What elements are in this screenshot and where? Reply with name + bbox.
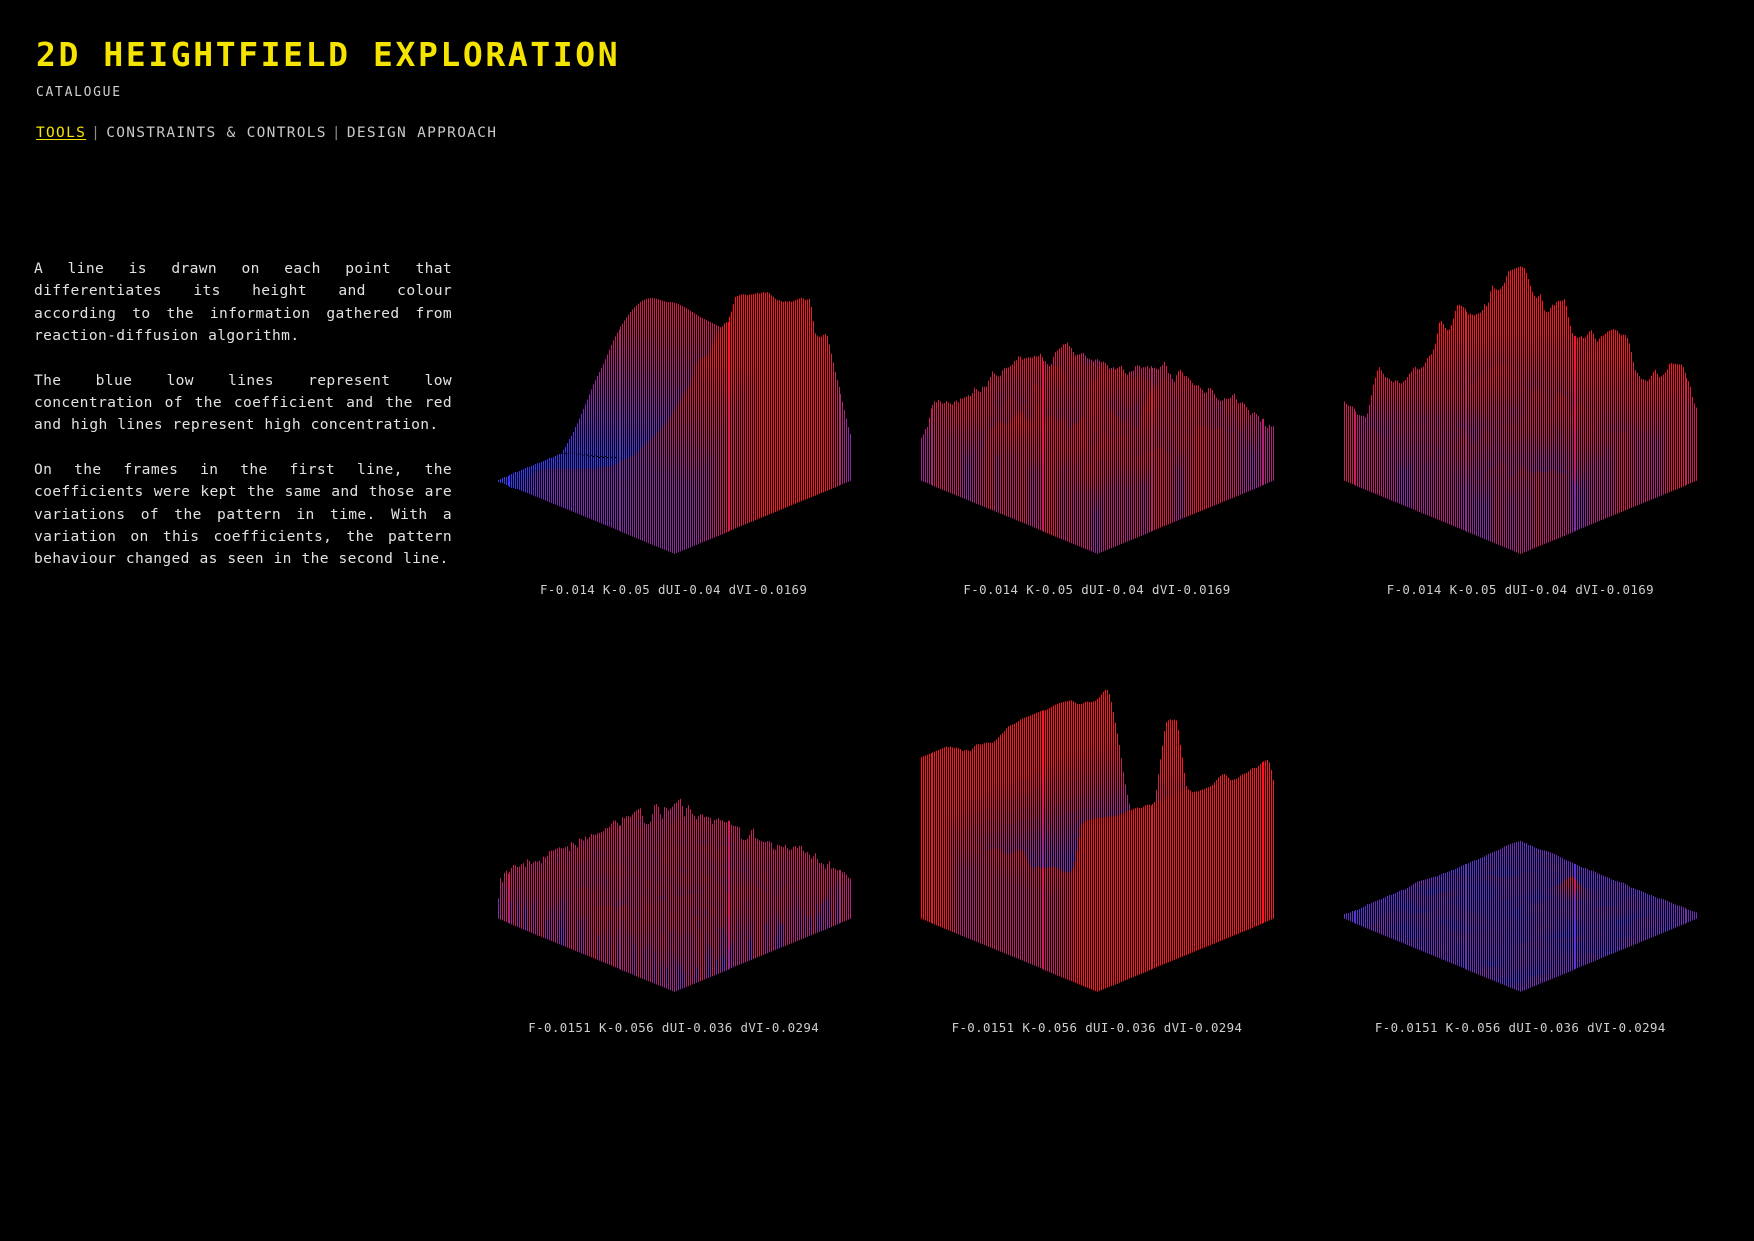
heightfield-canvas [1340, 236, 1700, 576]
page-root: 2D HEIGHTFIELD EXPLORATION CATALOGUE TOO… [0, 0, 1754, 1241]
heightfield-caption: F-0.014 K-0.05 dUI-0.04 dVI-0.0169 [1387, 582, 1654, 597]
main-nav: TOOLS|CONSTRAINTS & CONTROLS|DESIGN APPR… [36, 125, 936, 141]
page-header: 2D HEIGHTFIELD EXPLORATION CATALOGUE TOO… [36, 38, 936, 141]
heightfield-canvas [917, 674, 1277, 1014]
heightfield-cell[interactable]: F-0.0151 K-0.056 dUI-0.036 dVI-0.0294 [462, 674, 885, 1066]
nav-item-tools[interactable]: TOOLS [36, 125, 86, 141]
nav-item-constraints-controls[interactable]: CONSTRAINTS & CONTROLS [106, 125, 327, 141]
page-subtitle: CATALOGUE [36, 85, 936, 100]
description-paragraph-1: A line is drawn on each point that diffe… [34, 258, 452, 348]
heightfield-cell[interactable]: F-0.014 K-0.05 dUI-0.04 dVI-0.0169 [1309, 236, 1732, 628]
heightfield-cell[interactable]: F-0.014 K-0.05 dUI-0.04 dVI-0.0169 [885, 236, 1308, 628]
heightfield-caption: F-0.014 K-0.05 dUI-0.04 dVI-0.0169 [963, 582, 1230, 597]
heightfield-cell[interactable]: F-0.0151 K-0.056 dUI-0.036 dVI-0.0294 [1309, 674, 1732, 1066]
nav-separator-2: | [327, 125, 347, 141]
heightfield-canvas [494, 674, 854, 1014]
heightfield-cell[interactable]: F-0.014 K-0.05 dUI-0.04 dVI-0.0169 [462, 236, 885, 628]
description-paragraph-2: The blue low lines represent low concent… [34, 370, 452, 437]
heightfield-caption: F-0.0151 K-0.056 dUI-0.036 dVI-0.0294 [1375, 1020, 1666, 1035]
nav-separator-1: | [86, 125, 106, 141]
description-column: A line is drawn on each point that diffe… [34, 258, 452, 571]
page-title: 2D HEIGHTFIELD EXPLORATION [36, 38, 936, 71]
heightfield-cell[interactable]: F-0.0151 K-0.056 dUI-0.036 dVI-0.0294 [885, 674, 1308, 1066]
heightfield-canvas [494, 236, 854, 576]
heightfield-canvas [917, 236, 1277, 576]
heightfield-gallery: F-0.014 K-0.05 dUI-0.04 dVI-0.0169 F-0.0… [462, 236, 1732, 1066]
nav-item-design-approach[interactable]: DESIGN APPROACH [347, 125, 497, 141]
description-paragraph-3: On the frames in the first line, the coe… [34, 459, 452, 571]
heightfield-caption: F-0.0151 K-0.056 dUI-0.036 dVI-0.0294 [952, 1020, 1243, 1035]
heightfield-caption: F-0.0151 K-0.056 dUI-0.036 dVI-0.0294 [528, 1020, 819, 1035]
heightfield-caption: F-0.014 K-0.05 dUI-0.04 dVI-0.0169 [540, 582, 807, 597]
heightfield-canvas [1340, 674, 1700, 1014]
